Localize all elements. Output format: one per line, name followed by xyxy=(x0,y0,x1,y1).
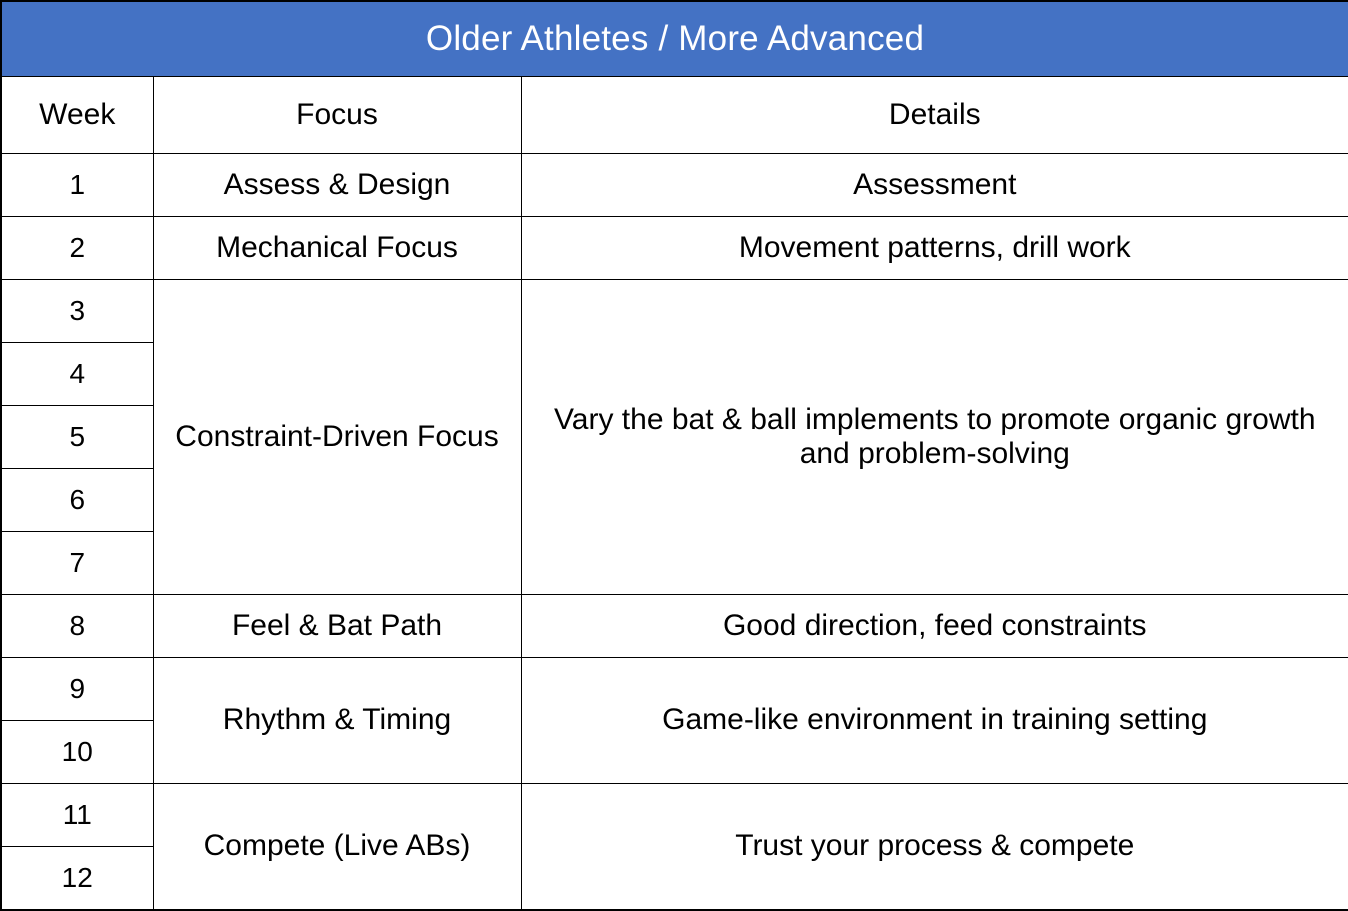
week-number: 8 xyxy=(1,595,153,658)
week-number: 3 xyxy=(1,280,153,343)
training-plan-table-sheet: Older Athletes / More Advanced Week Focu… xyxy=(0,0,1348,871)
table-row: 8 Feel & Bat Path Good direction, feed c… xyxy=(1,595,1348,658)
details-text: Good direction, feed constraints xyxy=(521,595,1348,658)
column-header-focus: Focus xyxy=(153,77,521,154)
table-row: 2 Mechanical Focus Movement patterns, dr… xyxy=(1,217,1348,280)
week-number: 7 xyxy=(1,532,153,595)
focus-text: Compete (Live ABs) xyxy=(153,784,521,911)
week-number: 10 xyxy=(1,721,153,784)
week-number: 6 xyxy=(1,469,153,532)
focus-text: Rhythm & Timing xyxy=(153,658,521,784)
table-title-row: Older Athletes / More Advanced xyxy=(1,1,1348,77)
week-number: 2 xyxy=(1,217,153,280)
column-header-week: Week xyxy=(1,77,153,154)
table-row: 3 Constraint-Driven Focus Vary the bat &… xyxy=(1,280,1348,343)
week-number: 4 xyxy=(1,343,153,406)
focus-text: Feel & Bat Path xyxy=(153,595,521,658)
details-text: Assessment xyxy=(521,154,1348,217)
focus-text: Constraint-Driven Focus xyxy=(153,280,521,595)
week-number: 1 xyxy=(1,154,153,217)
column-header-details: Details xyxy=(521,77,1348,154)
table-row: 9 Rhythm & Timing Game-like environment … xyxy=(1,658,1348,721)
table-row: 11 Compete (Live ABs) Trust your process… xyxy=(1,784,1348,847)
week-number: 5 xyxy=(1,406,153,469)
details-text: Game-like environment in training settin… xyxy=(521,658,1348,784)
week-number: 9 xyxy=(1,658,153,721)
table-title: Older Athletes / More Advanced xyxy=(1,1,1348,77)
training-plan-table: Older Athletes / More Advanced Week Focu… xyxy=(0,0,1348,911)
week-number: 11 xyxy=(1,784,153,847)
details-text: Movement patterns, drill work xyxy=(521,217,1348,280)
table-header-row: Week Focus Details xyxy=(1,77,1348,154)
focus-text: Mechanical Focus xyxy=(153,217,521,280)
details-text: Trust your process & compete xyxy=(521,784,1348,911)
week-number: 12 xyxy=(1,847,153,911)
details-text: Vary the bat & ball implements to promot… xyxy=(521,280,1348,595)
focus-text: Assess & Design xyxy=(153,154,521,217)
table-row: 1 Assess & Design Assessment xyxy=(1,154,1348,217)
